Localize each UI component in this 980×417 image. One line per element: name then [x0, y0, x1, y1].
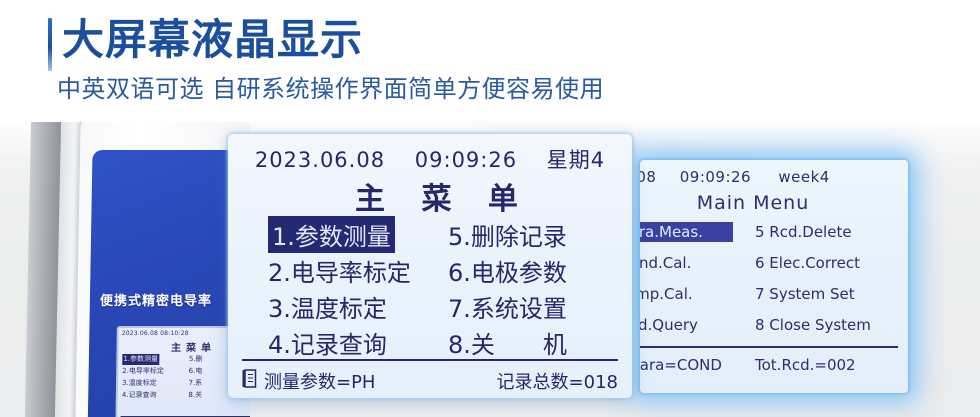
- device-photo: 便携式精密电导率 2023.06.08 08:10:28 主菜单 1.参数测量 …: [0, 122, 250, 417]
- english-menu-row: 3 Temp.Cal. 7 System Set: [640, 282, 905, 306]
- chinese-menu-title: 主 菜 单: [228, 174, 632, 218]
- lcd-screen-chinese: 2023.06.08 09:09:26 星期4 主 菜 单 1.参数测量 5.删…: [228, 134, 632, 398]
- page-subtitle: 中英双语可选 自研系统操作界面简单方便容易使用: [57, 73, 604, 105]
- chinese-footer: 测量参数=PH 记录总数=018: [242, 368, 618, 394]
- chinese-status-week: 星期4: [547, 148, 605, 172]
- english-menu-item[interactable]: 1 Para.Meas.: [640, 222, 755, 242]
- chinese-statusbar: 2023.06.08 09:09:26 星期4: [228, 144, 632, 174]
- record-book-icon: [242, 369, 264, 393]
- english-status-week: week4: [778, 168, 829, 186]
- english-menu-item[interactable]: 4 Rcd.Query: [640, 316, 755, 334]
- chinese-menu-item[interactable]: 7.系统设置: [448, 289, 618, 324]
- chinese-footer-left: 测量参数=PH: [264, 368, 454, 394]
- english-menu-row: 2 Cond.Cal. 6 Elec.Correct: [640, 251, 905, 275]
- chinese-footer-right: 记录总数=018: [454, 368, 618, 394]
- english-footer-left: Mtr.Para=COND: [640, 356, 755, 374]
- chinese-status-time: 09:09:26: [415, 148, 517, 172]
- english-menu-item[interactable]: 3 Temp.Cal.: [640, 285, 755, 303]
- english-menu-item[interactable]: 8 Close System: [755, 316, 905, 334]
- header: 大屏幕液晶显示 中英双语可选 自研系统操作界面简单方便容易使用: [0, 0, 980, 122]
- english-menu-item[interactable]: 5 Rcd.Delete: [755, 223, 905, 241]
- page-root: 大屏幕液晶显示 中英双语可选 自研系统操作界面简单方便容易使用 便携式精密电导率…: [0, 0, 980, 417]
- english-status-time: 09:09:26: [680, 168, 751, 186]
- english-menu-row: 4 Rcd.Query 8 Close System: [640, 313, 905, 337]
- chinese-menu-item[interactable]: 8.关 机: [448, 325, 618, 360]
- chinese-menu-item[interactable]: 6.电极参数: [448, 253, 618, 288]
- chinese-divider: [242, 359, 618, 361]
- english-menu-row: 1 Para.Meas. 5 Rcd.Delete: [640, 220, 905, 244]
- chinese-menu-item[interactable]: 5.删除记录: [448, 217, 618, 252]
- english-menu-list: 1 Para.Meas. 5 Rcd.Delete 2 Cond.Cal. 6 …: [640, 220, 905, 344]
- accent-bar: [48, 18, 52, 71]
- english-menu-item-selected: 1 Para.Meas.: [640, 222, 733, 242]
- chinese-menu-item[interactable]: 1.参数测量: [268, 216, 448, 253]
- english-footer: Mtr.Para=COND Tot.Rcd.=002: [640, 356, 905, 374]
- english-footer-right: Tot.Rcd.=002: [755, 356, 905, 374]
- english-menu-item[interactable]: 2 Cond.Cal.: [640, 254, 755, 272]
- chinese-menu-row: 4.记录查询 8.关 机: [268, 324, 618, 360]
- chinese-menu-list: 1.参数测量 5.删除记录 2.电导率标定 6.电极参数 3.温度标定 7.系统…: [268, 216, 618, 360]
- chinese-menu-row: 1.参数测量 5.删除记录: [268, 216, 618, 252]
- chinese-menu-item[interactable]: 3.温度标定: [268, 289, 448, 324]
- english-statusbar: 06.08 09:09:26 week4: [640, 168, 903, 186]
- device-screen-item: 2.电导率标定: [122, 366, 189, 377]
- device-screen-item: 4.记录查询: [122, 390, 189, 401]
- chinese-status-date: 2023.06.08: [255, 148, 385, 172]
- english-menu-item[interactable]: 6 Elec.Correct: [755, 254, 905, 272]
- chinese-menu-item-selected: 1.参数测量: [268, 216, 395, 253]
- english-divider: [640, 346, 898, 348]
- english-status-date: 06.08: [640, 168, 656, 186]
- chinese-menu-row: 2.电导率标定 6.电极参数: [268, 252, 618, 288]
- lcd-screen-english: 06.08 09:09:26 week4 Main Menu 1 Para.Me…: [640, 160, 908, 393]
- device-screen-item-selected: 1.参数测量: [122, 354, 159, 365]
- chinese-menu-row: 3.温度标定 7.系统设置: [268, 288, 618, 324]
- chinese-menu-item[interactable]: 4.记录查询: [268, 325, 448, 360]
- english-menu-title: Main Menu: [640, 192, 903, 214]
- page-title: 大屏幕液晶显示: [62, 12, 363, 68]
- device-screen-item: 1.参数测量: [122, 354, 189, 365]
- chinese-menu-item[interactable]: 2.电导率标定: [268, 253, 448, 288]
- english-menu-item[interactable]: 7 System Set: [755, 285, 905, 303]
- device-screen-item: 3.温度标定: [122, 378, 189, 389]
